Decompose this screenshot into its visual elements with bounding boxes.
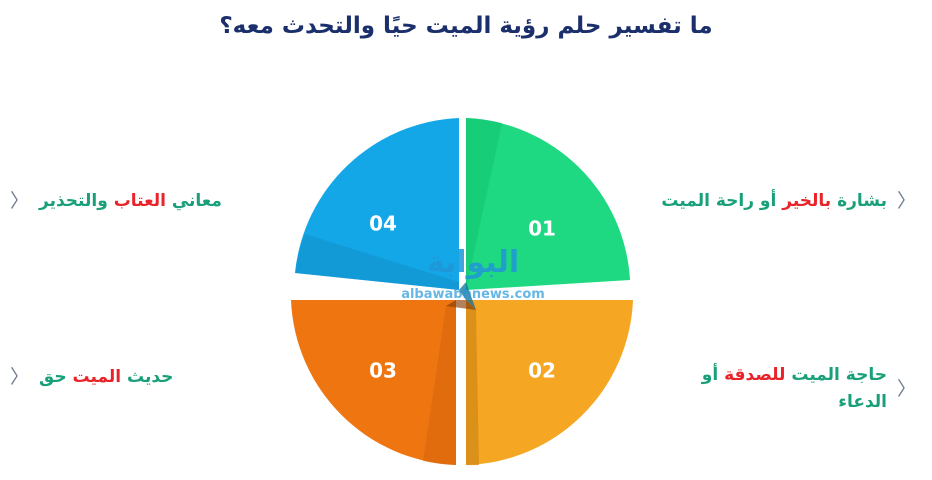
chevron-left-icon: 〈 (897, 374, 916, 404)
pie-legend-label-04: معاني العتاب والتحذير (39, 188, 222, 215)
pie-legend-item-03[interactable]: حديث الميت حق 〈 (10, 362, 278, 392)
pie-legend-item-04[interactable]: معاني العتاب والتحذير 〈 (10, 186, 278, 216)
pie-slice-label-04: 04 (369, 212, 397, 236)
chevron-left-icon: 〈 (10, 186, 29, 216)
pie-slice-02[interactable] (466, 300, 633, 465)
chevron-left-icon: 〈 (897, 186, 916, 216)
pie-legend-label-03: حديث الميت حق (39, 364, 173, 391)
chevron-left-icon: 〈 (10, 362, 29, 392)
pie-slice-label-03: 03 (369, 359, 397, 383)
pie-legend-label-01: بشارة بالخير أو راحة الميت (661, 188, 887, 215)
pie-chart-svg: 01 02 03 04 (283, 110, 649, 470)
pie-slice-label-01: 01 (528, 217, 556, 241)
pie-slice-label-02: 02 (528, 359, 556, 383)
pie-legend-label-02: حاجة الميت للصدقة أو الدعاء (648, 362, 887, 416)
page-title: ما تفسير حلم رؤية الميت حيًا والتحدث معه… (0, 10, 932, 43)
pie-legend-item-02[interactable]: 〈 حاجة الميت للصدقة أو الدعاء (648, 362, 916, 416)
pie-chart: 01 02 03 04 (283, 110, 649, 470)
pie-legend-item-01[interactable]: 〈 بشارة بالخير أو راحة الميت (648, 186, 916, 216)
